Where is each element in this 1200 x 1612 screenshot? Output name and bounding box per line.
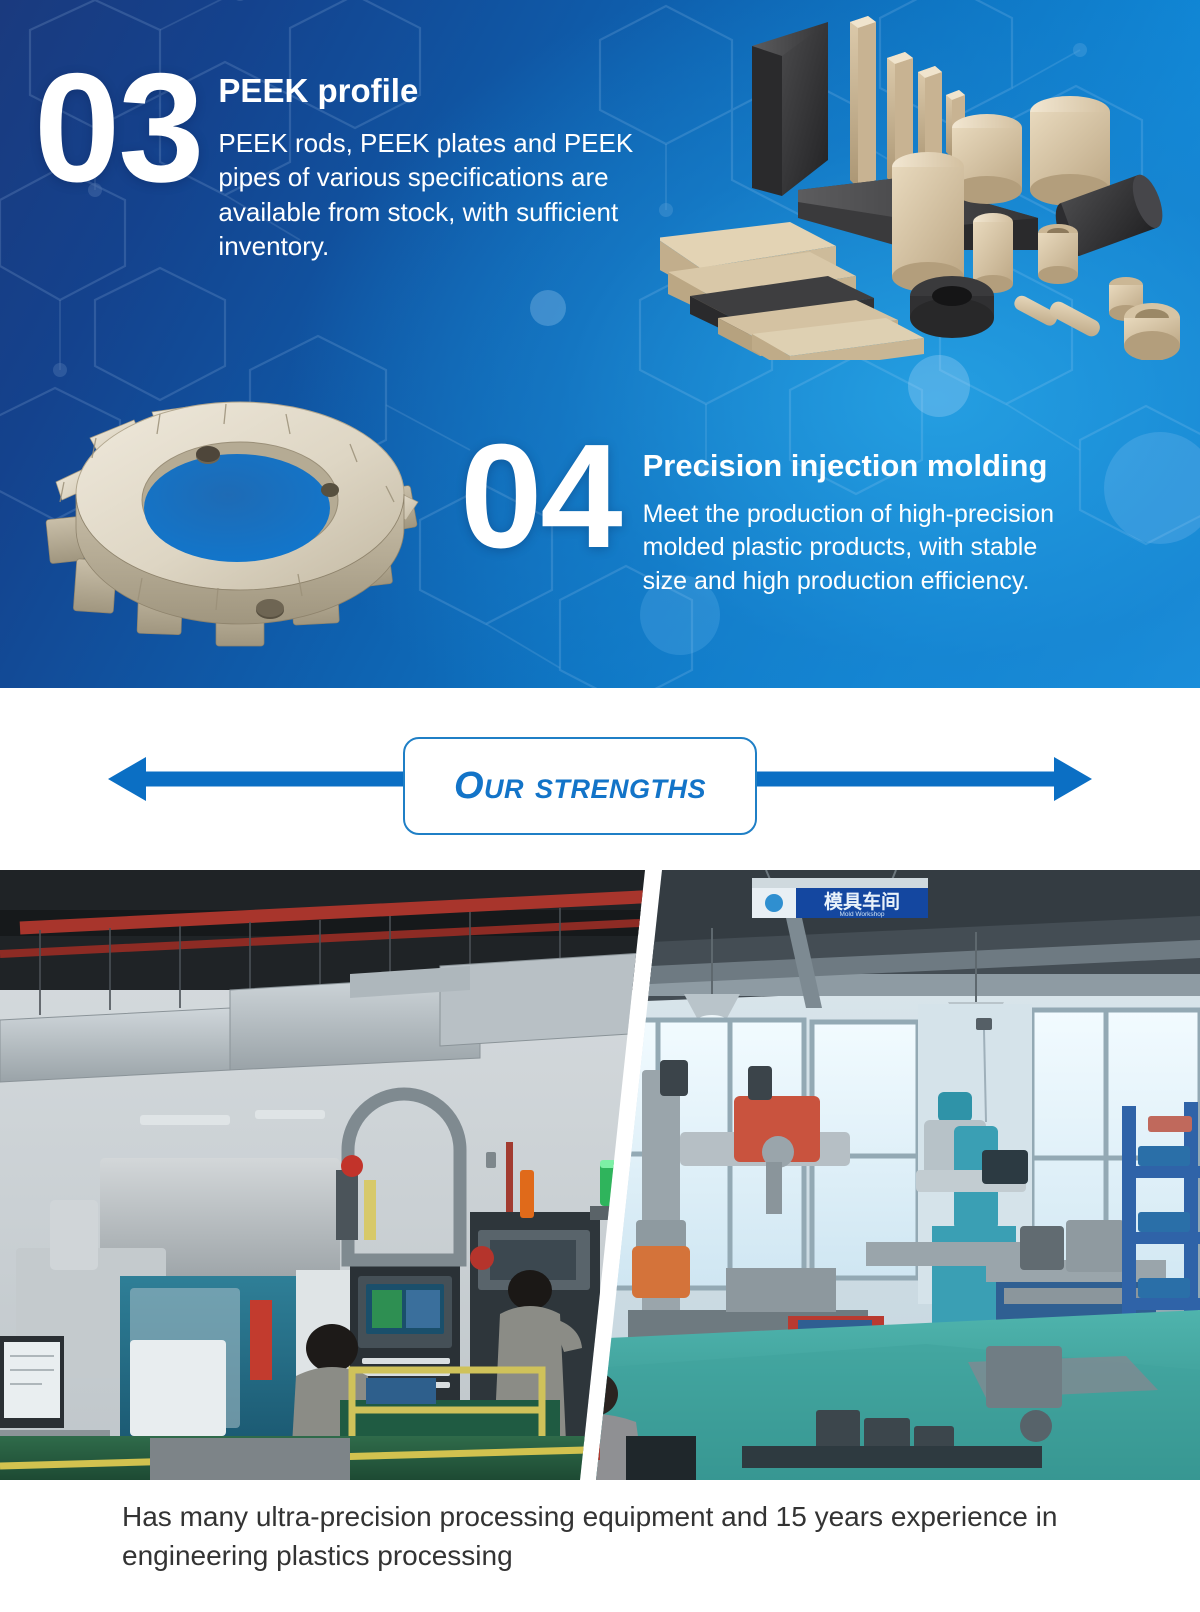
feature-number: 04 <box>460 432 621 562</box>
peek-machined-ring-photo <box>30 378 450 680</box>
feature-block-04: 04 Precision injection molding Meet the … <box>460 428 1180 598</box>
arrow-head-left-icon <box>108 757 146 801</box>
strengths-title-box: Our strengths <box>403 737 757 835</box>
caption-bar: Has many ultra-precision processing equi… <box>0 1480 1200 1612</box>
feature-description: PEEK rods, PEEK plates and PEEK pipes of… <box>218 126 636 263</box>
feature-block-03: 03 PEEK profile PEEK rods, PEEK plates a… <box>34 58 674 263</box>
workshop-photos: 模具车间 Mold Workshop <box>0 870 1200 1480</box>
svg-text:Mold Workshop: Mold Workshop <box>839 911 884 918</box>
cnc-machining-workshop-photo <box>0 870 660 1480</box>
hero-section: 03 PEEK profile PEEK rods, PEEK plates a… <box>0 0 1200 688</box>
feature-number: 03 <box>34 60 202 196</box>
peek-stock-shapes-photo <box>660 0 1200 360</box>
feature-title: PEEK profile <box>218 72 636 110</box>
caption-text: Has many ultra-precision processing equi… <box>122 1498 1080 1575</box>
svg-text:模具车间: 模具车间 <box>824 890 900 913</box>
strengths-title: Our strengths <box>454 765 706 808</box>
feature-description: Meet the production of high-precision mo… <box>643 498 1083 598</box>
feature-title: Precision injection molding <box>643 448 1083 484</box>
mold-workshop-photo: 模具车间 Mold Workshop <box>566 870 1200 1480</box>
arrow-head-right-icon <box>1054 757 1092 801</box>
